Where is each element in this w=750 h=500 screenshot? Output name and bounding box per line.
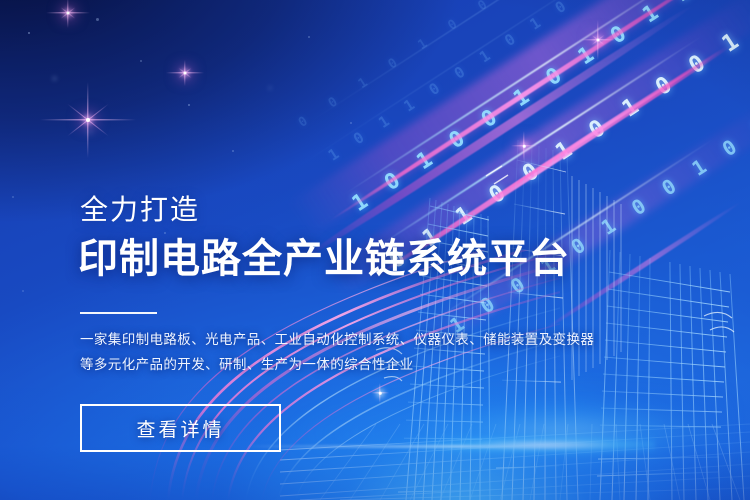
hero-description-line-2: 等多元化产品的开发、研制、生产为一体的综合性企业 (80, 352, 592, 377)
hero-banner: 1 0 1 1 0 0 1 0 1 0 1 0 0 1 1 0 1 0 1 0 … (0, 0, 750, 500)
view-details-button[interactable]: 查看详情 (80, 404, 281, 452)
hero-content: 全力打造 印制电路全产业链系统平台 一家集印制电路板、光电产品、工业自动化控制系… (80, 0, 680, 500)
hero-divider (80, 312, 157, 314)
hero-description-line-1: 一家集印制电路板、光电产品、工业自动化控制系统、仪器仪表、储能装置及变换器 (80, 327, 592, 352)
hero-description: 一家集印制电路板、光电产品、工业自动化控制系统、仪器仪表、储能装置及变换器 等多… (80, 327, 592, 377)
hero-eyebrow: 全力打造 (80, 193, 200, 227)
hero-headline: 印制电路全产业链系统平台 (78, 236, 570, 283)
